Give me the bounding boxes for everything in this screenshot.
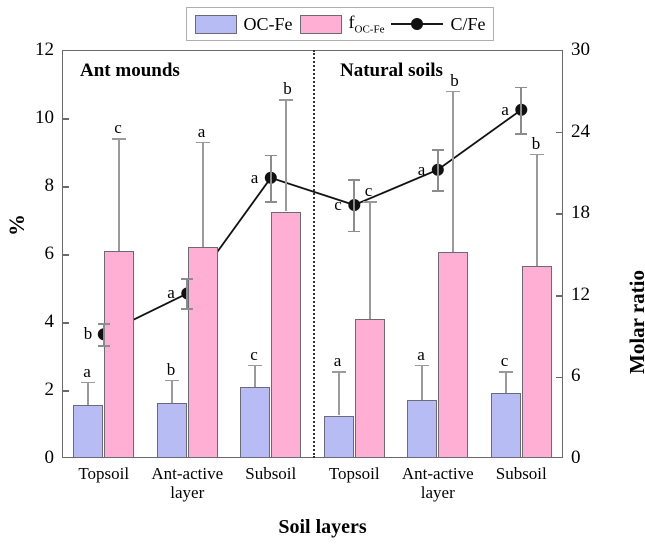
y-tick-label-left: 12 <box>20 40 54 59</box>
bar-oc-fe <box>407 400 437 458</box>
legend-label-oc-fe: OC-Fe <box>244 15 293 33</box>
error-bar-c-fe <box>186 278 188 308</box>
error-bar-oc-fe-cap <box>165 380 179 382</box>
sig-letter-oc-fe: a <box>83 363 91 380</box>
y-tick-label-right: 12 <box>571 285 611 304</box>
bar-oc-fe <box>73 405 103 458</box>
group-title-ant-mounds: Ant mounds <box>80 60 180 82</box>
error-bar-oc-fe-cap <box>81 382 95 384</box>
error-bar-oc-fe-cap <box>415 365 429 367</box>
bar-foc-fe <box>522 266 552 458</box>
sig-letter-oc-fe: a <box>334 352 342 369</box>
legend-label-foc-fe: fOC-Fe <box>349 13 385 36</box>
x-axis-title: Soil layers <box>0 516 645 539</box>
y-tick-label-left: 6 <box>20 244 54 263</box>
error-bar-oc-fe <box>171 380 173 403</box>
error-bar-c-fe-cap <box>98 323 110 325</box>
sig-letter-foc-fe: b <box>450 72 459 89</box>
legend-swatch-foc-fe <box>300 15 342 34</box>
error-bar-foc-fe-cap <box>196 142 210 144</box>
sig-letter-c-fe: b <box>84 325 93 342</box>
error-bar-c-fe-cap <box>515 133 527 135</box>
bar-foc-fe <box>271 212 301 459</box>
error-bar-oc-fe <box>338 371 340 415</box>
sig-letter-c-fe: a <box>418 161 426 178</box>
sig-letter-c-fe: a <box>251 169 259 186</box>
y-tick-right <box>556 295 562 297</box>
error-bar-foc-fe <box>369 201 371 318</box>
bar-foc-fe <box>438 252 468 458</box>
error-bar-c-fe-cap <box>515 87 527 89</box>
error-bar-oc-fe <box>87 382 89 406</box>
error-bar-c-fe <box>437 149 439 190</box>
error-bar-oc-fe <box>421 365 423 400</box>
sig-letter-foc-fe: c <box>114 119 122 136</box>
sig-letter-oc-fe: b <box>167 361 176 378</box>
bar-foc-fe <box>104 251 134 458</box>
sig-letter-foc-fe: b <box>532 135 541 152</box>
error-bar-foc-fe <box>452 91 454 253</box>
y-tick-right <box>556 377 562 379</box>
error-bar-c-fe <box>103 323 105 345</box>
x-tick-label: Subsoil <box>466 464 576 483</box>
y-tick-label-right: 0 <box>571 448 611 467</box>
error-bar-foc-fe-cap <box>363 201 377 203</box>
y-tick-label-left: 2 <box>20 380 54 399</box>
error-bar-oc-fe-cap <box>332 371 346 373</box>
sig-letter-foc-fe: a <box>198 123 206 140</box>
error-bar-c-fe-cap <box>265 201 277 203</box>
bar-oc-fe <box>240 387 270 458</box>
legend-line-marker-icon <box>391 15 443 33</box>
error-bar-foc-fe-cap <box>530 154 544 156</box>
y-tick-left <box>63 390 69 392</box>
error-bar-oc-fe <box>505 371 507 393</box>
sig-letter-c-fe: a <box>167 284 175 301</box>
error-bar-oc-fe-cap <box>499 371 513 373</box>
sig-letter-c-fe: c <box>334 196 342 213</box>
legend-label-c-fe: C/Fe <box>450 15 485 33</box>
error-bar-c-fe-cap <box>181 278 193 280</box>
legend-swatch-oc-fe <box>195 15 237 34</box>
y-tick-right <box>556 213 562 215</box>
error-bar-c-fe-cap <box>432 190 444 192</box>
error-bar-foc-fe-cap <box>112 138 126 140</box>
error-bar-foc-fe <box>202 142 204 247</box>
group-title-natural-soils: Natural soils <box>340 60 443 82</box>
error-bar-oc-fe-cap <box>248 365 262 367</box>
bar-oc-fe <box>157 403 187 458</box>
sig-letter-foc-fe: c <box>365 182 373 199</box>
y-tick-left <box>63 186 69 188</box>
error-bar-c-fe <box>270 155 272 201</box>
sig-letter-oc-fe: c <box>250 346 258 363</box>
y-tick-label-right: 30 <box>571 40 611 59</box>
sig-letter-oc-fe: c <box>501 352 509 369</box>
error-bar-foc-fe-cap <box>446 91 460 93</box>
error-bar-c-fe-cap <box>181 308 193 310</box>
error-bar-foc-fe <box>536 154 538 266</box>
chart-legend: OC-Fe fOC-Fe C/Fe <box>186 7 494 41</box>
y-tick-left <box>63 118 69 120</box>
error-bar-c-fe-cap <box>432 149 444 151</box>
group-divider <box>313 50 315 458</box>
error-bar-foc-fe <box>285 99 287 211</box>
sig-letter-oc-fe: a <box>417 346 425 363</box>
y-tick-left <box>63 254 69 256</box>
y-tick-label-right: 6 <box>571 366 611 385</box>
error-bar-c-fe-cap <box>348 231 360 233</box>
y-tick-label-right: 24 <box>571 122 611 141</box>
y-tick-label-left: 10 <box>20 108 54 127</box>
error-bar-foc-fe-cap <box>279 99 293 101</box>
y-tick-left <box>63 322 69 324</box>
error-bar-c-fe-cap <box>98 345 110 347</box>
y-tick-label-left: 8 <box>20 176 54 195</box>
bar-oc-fe <box>491 393 521 458</box>
sig-letter-foc-fe: b <box>283 80 292 97</box>
error-bar-c-fe <box>520 87 522 133</box>
error-bar-foc-fe <box>118 138 120 251</box>
error-bar-c-fe <box>353 179 355 231</box>
bar-foc-fe <box>355 319 385 458</box>
chart-figure: OC-Fe fOC-Fe C/Fe % Molar ratio Soil lay… <box>0 0 645 547</box>
error-bar-c-fe-cap <box>348 179 360 181</box>
y-axis-title-left: % <box>4 214 30 236</box>
y-axis-title-right: Molar ratio <box>625 270 645 374</box>
y-tick-label-right: 18 <box>571 203 611 222</box>
bar-oc-fe <box>324 416 354 459</box>
sig-letter-c-fe: a <box>501 101 509 118</box>
error-bar-c-fe-cap <box>265 155 277 157</box>
error-bar-oc-fe <box>254 365 256 388</box>
y-tick-label-left: 4 <box>20 312 54 331</box>
y-tick-right <box>556 132 562 134</box>
